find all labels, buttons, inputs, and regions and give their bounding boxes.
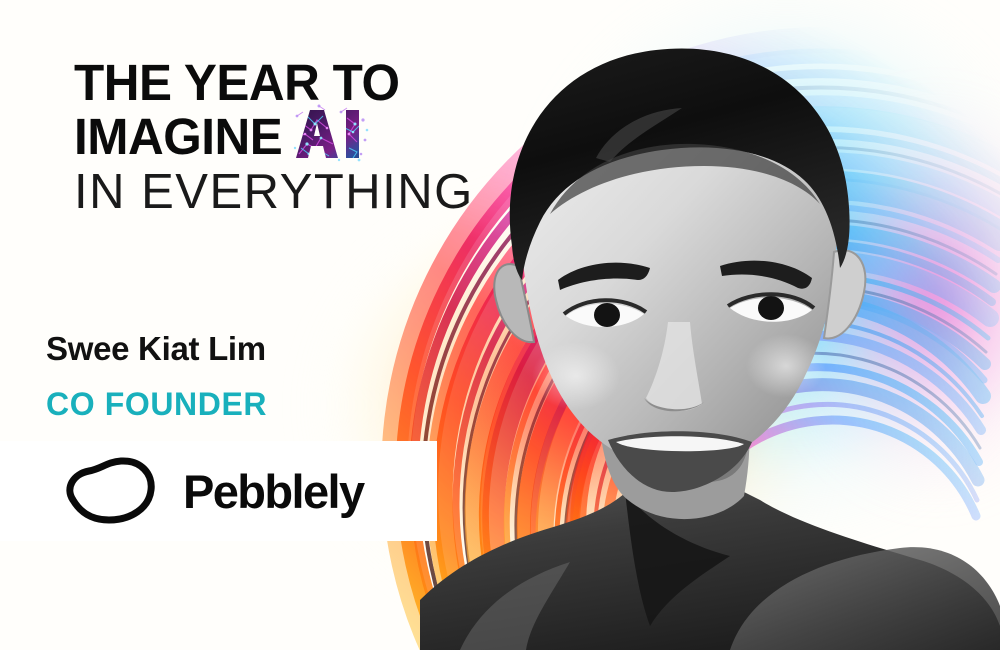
left-cheek-highlight [532, 342, 620, 410]
headline: THE YEAR TO IMAGINE [74, 56, 544, 220]
logo-panel: Pebblely [0, 441, 437, 541]
headline-line-1-text: THE YEAR TO [74, 56, 399, 110]
speaker-name: Swee Kiat Lim [46, 330, 267, 368]
headline-line-1: THE YEAR TO [74, 56, 544, 110]
right-cheek-highlight [746, 334, 826, 398]
right-pupil [758, 296, 784, 320]
pebble-outline-icon [55, 456, 159, 526]
speaker-role: CO FOUNDER [46, 386, 267, 423]
headline-line-2-text: IMAGINE [74, 110, 282, 164]
speaker-block: Swee Kiat Lim CO FOUNDER [46, 330, 267, 423]
ai-badge-icon [293, 110, 365, 164]
headline-line-3-text: IN EVERYTHING [74, 164, 474, 220]
speaker-announcement-card: THE YEAR TO IMAGINE [0, 0, 1000, 650]
headline-line-2: IMAGINE [74, 110, 544, 164]
headline-line-3: IN EVERYTHING [74, 164, 544, 220]
left-pupil [594, 303, 620, 327]
pebblely-wordmark: Pebblely [183, 464, 364, 519]
